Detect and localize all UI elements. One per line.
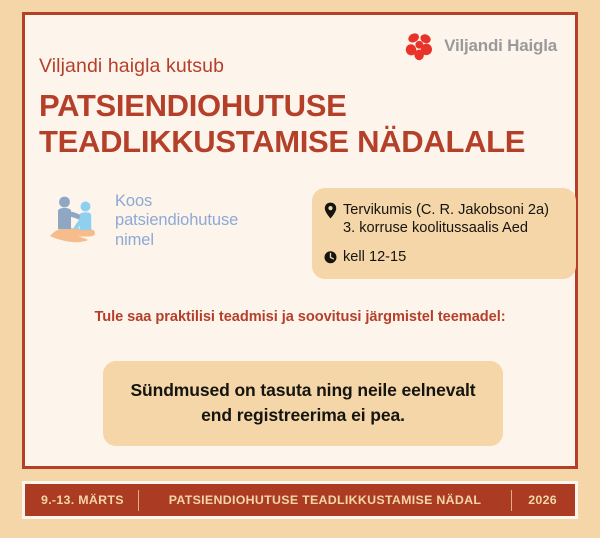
footer-year: 2026 bbox=[512, 493, 575, 507]
event-details-box: Tervikumis (C. R. Jakobsoni 2a) 3. korru… bbox=[312, 188, 576, 279]
koos-patsiendiohutuse-nimel-mark-icon bbox=[47, 190, 109, 252]
event-location-row: Tervikumis (C. R. Jakobsoni 2a) 3. korru… bbox=[324, 201, 564, 237]
viljandi-haigla-flower-logo-icon bbox=[403, 29, 437, 63]
location-pin-icon bbox=[324, 202, 337, 219]
viljandi-haigla-logo: Viljandi Haigla bbox=[403, 29, 557, 63]
notice-line-1: Sündmused on tasuta ning neile eelnevalt bbox=[123, 378, 483, 403]
eyebrow-text: Viljandi haigla kutsub bbox=[39, 55, 224, 78]
invite-text: Tule saa praktilisi teadmisi ja soovitus… bbox=[25, 309, 575, 325]
brand-name-text: Viljandi Haigla bbox=[444, 36, 557, 56]
notice-line-2: end registreerima ei pea. bbox=[123, 403, 483, 428]
footer-campaign-name: PATSIENDIOHUTUSE TEADLIKKUSTAMISE NÄDAL bbox=[139, 493, 511, 507]
event-location-line-1: Tervikumis (C. R. Jakobsoni 2a) bbox=[343, 201, 549, 219]
clock-icon bbox=[324, 249, 337, 266]
campaign-logo-line-3: nimel bbox=[115, 231, 238, 250]
campaign-logo-line-2: patsiendiohutuse bbox=[115, 211, 238, 230]
poster-root: Viljandi Haigla Viljandi haigla kutsub P… bbox=[0, 0, 600, 538]
campaign-logo-text: Koos patsiendiohutuse nimel bbox=[115, 192, 238, 250]
headline-line-1: PATSIENDIOHUTUSE bbox=[39, 88, 565, 124]
campaign-logo-line-1: Koos bbox=[115, 192, 238, 211]
campaign-logo: Koos patsiendiohutuse nimel bbox=[47, 190, 238, 252]
event-time-row: kell 12-15 bbox=[324, 248, 564, 266]
event-location-line-2: 3. korruse koolitussaalis Aed bbox=[343, 219, 549, 237]
event-time-text: kell 12-15 bbox=[343, 248, 406, 266]
footer-dates: 9.-13. MÄRTS bbox=[25, 493, 138, 507]
event-time-line-1: kell 12-15 bbox=[343, 248, 406, 266]
page-title: PATSIENDIOHUTUSE TEADLIKKUSTAMISE NÄDALA… bbox=[39, 88, 565, 160]
poster-card: Viljandi Haigla Viljandi haigla kutsub P… bbox=[22, 12, 578, 469]
footer-bar: 9.-13. MÄRTS PATSIENDIOHUTUSE TEADLIKKUS… bbox=[22, 481, 578, 519]
headline-line-2: TEADLIKKUSTAMISE NÄDALALE bbox=[39, 124, 565, 160]
free-entry-notice-box: Sündmused on tasuta ning neile eelnevalt… bbox=[103, 361, 503, 446]
event-location-text: Tervikumis (C. R. Jakobsoni 2a) 3. korru… bbox=[343, 201, 549, 237]
